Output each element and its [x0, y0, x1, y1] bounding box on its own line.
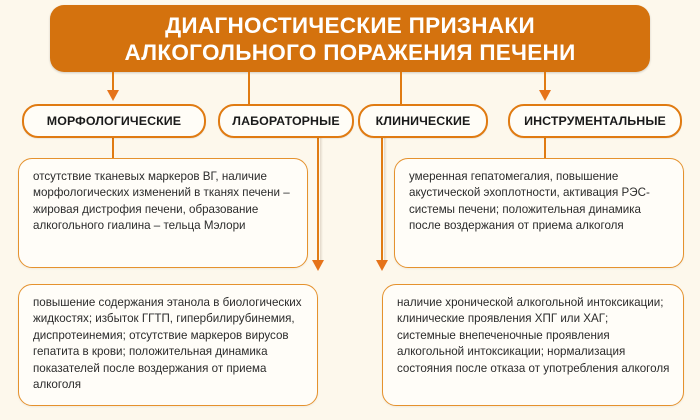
connector-header-to-laboratory: [248, 72, 250, 104]
diagram-title-banner: ДИАГНОСТИЧЕСКИЕ ПРИЗНАКИ АЛКОГОЛЬНОГО ПО…: [50, 5, 650, 72]
category-clinical-label: КЛИНИЧЕСКИЕ: [376, 114, 471, 128]
arrow-clinical-to-box: [376, 260, 388, 271]
connector-laboratory-shadow: [320, 134, 323, 262]
arrow-laboratory-to-box: [312, 260, 324, 271]
connector-clinical-to-box: [381, 134, 383, 262]
category-laboratory-label: ЛАБОРАТОРНЫЕ: [232, 114, 339, 128]
content-box-clinical-text: наличие хронической алкогольной интоксик…: [397, 295, 670, 377]
arrow-header-to-instrumental: [539, 90, 551, 101]
category-clinical[interactable]: КЛИНИЧЕСКИЕ: [358, 104, 488, 138]
content-box-clinical: наличие хронической алкогольной интоксик…: [382, 284, 684, 406]
content-box-morphological-text: отсутствие тканевых маркеров ВГ, наличие…: [33, 169, 294, 235]
content-box-instrumental-text: умеренная гепатомегалия, повышение акуст…: [409, 169, 670, 235]
connector-header-to-morphological: [112, 72, 114, 92]
connector-clinical-shadow: [384, 134, 387, 262]
category-instrumental[interactable]: ИНСТРУМЕНТАЛЬНЫЕ: [508, 104, 682, 138]
category-laboratory[interactable]: ЛАБОРАТОРНЫЕ: [218, 104, 354, 138]
content-box-instrumental: умеренная гепатомегалия, повышение акуст…: [394, 158, 684, 268]
content-box-morphological: отсутствие тканевых маркеров ВГ, наличие…: [18, 158, 308, 268]
category-instrumental-label: ИНСТРУМЕНТАЛЬНЫЕ: [524, 114, 666, 128]
content-box-laboratory: повышение содержания этанола в биологиче…: [18, 284, 318, 406]
connector-header-to-clinical: [400, 72, 402, 104]
title-line-2: АЛКОГОЛЬНОГО ПОРАЖЕНИЯ ПЕЧЕНИ: [124, 39, 575, 66]
connector-header-to-instrumental: [544, 72, 546, 92]
diagram-canvas: ДИАГНОСТИЧЕСКИЕ ПРИЗНАКИ АЛКОГОЛЬНОГО ПО…: [0, 0, 700, 420]
content-box-laboratory-text: повышение содержания этанола в биологиче…: [33, 295, 304, 393]
title-line-1: ДИАГНОСТИЧЕСКИЕ ПРИЗНАКИ: [165, 12, 535, 39]
arrow-header-to-morphological: [107, 90, 119, 101]
category-morphological-label: МОРФОЛОГИЧЕСКИЕ: [47, 114, 181, 128]
category-morphological[interactable]: МОРФОЛОГИЧЕСКИЕ: [22, 104, 206, 138]
connector-laboratory-to-box: [317, 134, 319, 262]
